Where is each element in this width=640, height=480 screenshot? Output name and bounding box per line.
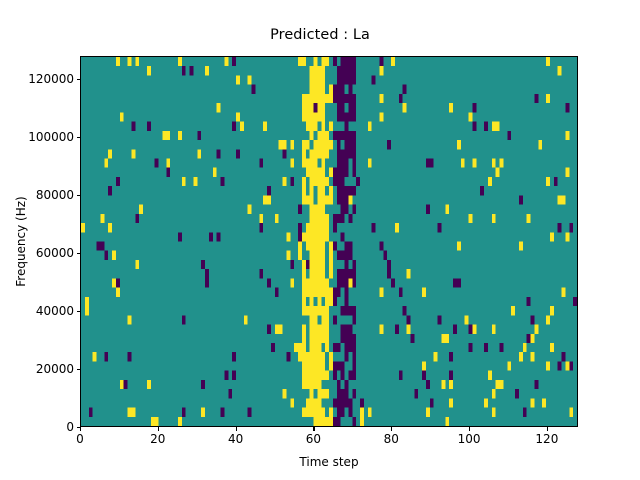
y-tick-mark — [77, 195, 81, 196]
spectrogram-heatmap — [81, 57, 577, 426]
y-tick-label: 100000 — [28, 130, 74, 144]
x-tick-label: 60 — [306, 432, 321, 446]
x-tick-mark — [158, 427, 159, 431]
x-tick-mark — [547, 427, 548, 431]
page-title: Predicted : La — [0, 27, 640, 43]
y-axis-label: Frequency (Hz) — [14, 56, 30, 427]
x-tick-label: 40 — [228, 432, 243, 446]
x-tick-label: 100 — [458, 432, 481, 446]
x-tick-label: 0 — [76, 432, 84, 446]
y-tick-label: 40000 — [36, 304, 74, 318]
x-tick-mark — [313, 427, 314, 431]
y-tick-mark — [77, 369, 81, 370]
x-tick-label: 80 — [384, 432, 399, 446]
y-tick-label: 60000 — [36, 246, 74, 260]
y-tick-mark — [77, 427, 81, 428]
y-tick-label: 120000 — [28, 72, 74, 86]
x-axis-label: Time step — [80, 455, 578, 469]
spectrogram-axes — [80, 56, 578, 427]
matplotlib-figure: Predicted : La Frequency (Hz) Time step … — [0, 0, 640, 480]
x-tick-label: 20 — [150, 432, 165, 446]
x-tick-mark — [469, 427, 470, 431]
x-tick-mark — [236, 427, 237, 431]
x-tick-mark — [391, 427, 392, 431]
y-tick-label: 20000 — [36, 362, 74, 376]
y-tick-mark — [77, 311, 81, 312]
y-tick-mark — [77, 137, 81, 138]
y-tick-mark — [77, 79, 81, 80]
x-tick-label: 120 — [535, 432, 558, 446]
y-tick-mark — [77, 253, 81, 254]
y-tick-label: 0 — [66, 420, 74, 434]
y-tick-label: 80000 — [36, 188, 74, 202]
x-tick-mark — [80, 427, 81, 431]
